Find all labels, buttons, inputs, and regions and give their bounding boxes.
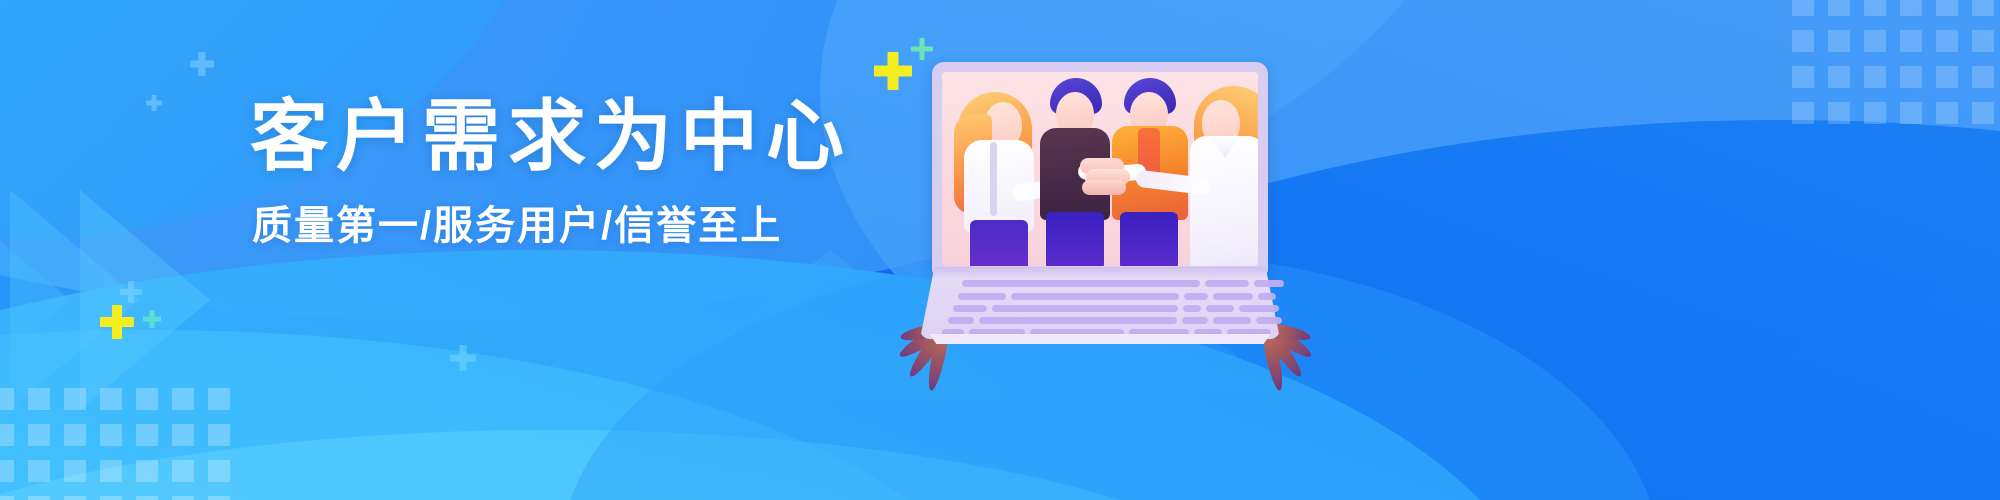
person-3-legs bbox=[1120, 212, 1178, 266]
wave-shape-bottom-cyan bbox=[0, 250, 1540, 500]
dot-grid-bottom-left bbox=[0, 388, 230, 500]
banner-headline: 客户需求为中心 bbox=[250, 96, 850, 178]
cross-teal-small-left-icon bbox=[143, 310, 161, 328]
cross-yellow-large-right-icon bbox=[874, 52, 912, 90]
people-group bbox=[942, 72, 1258, 266]
cross-sky-small-icon bbox=[146, 95, 162, 111]
stacked-hands bbox=[1078, 156, 1138, 198]
laptop-lid bbox=[932, 62, 1268, 274]
laptop-base-lip bbox=[926, 334, 1274, 344]
wave-shape-bottom-cyan-2 bbox=[0, 330, 1000, 500]
banner-copy: 客户需求为中心 质量第一/服务用户/信誉至上 bbox=[250, 96, 850, 248]
cross-yellow-large-left-icon bbox=[100, 305, 134, 339]
person-1-legs bbox=[970, 220, 1028, 266]
banner-alt-text: 企业宣传横幅 / corporate promotional banner bbox=[0, 0, 1, 1]
teamwork-laptop-illustration bbox=[920, 62, 1280, 352]
person-4 bbox=[1180, 84, 1258, 266]
laptop-keyboard bbox=[920, 272, 1280, 338]
person-1-collar bbox=[990, 142, 997, 216]
cross-mint-small-right-icon bbox=[911, 38, 933, 60]
cross-sky-center-icon bbox=[450, 345, 476, 371]
dot-grid-top-right bbox=[1792, 0, 1994, 124]
person-1 bbox=[950, 88, 1044, 266]
laptop-screen bbox=[942, 72, 1258, 266]
cross-sky-left-lower-icon bbox=[120, 281, 142, 303]
wave-shape-bottom-strip bbox=[0, 430, 1300, 500]
cross-sky-left-upper-icon bbox=[190, 52, 214, 76]
person-2-legs bbox=[1046, 212, 1104, 266]
promo-banner: 客户需求为中心 质量第一/服务用户/信誉至上 bbox=[0, 0, 2000, 500]
banner-subline: 质量第一/服务用户/信誉至上 bbox=[252, 204, 850, 248]
